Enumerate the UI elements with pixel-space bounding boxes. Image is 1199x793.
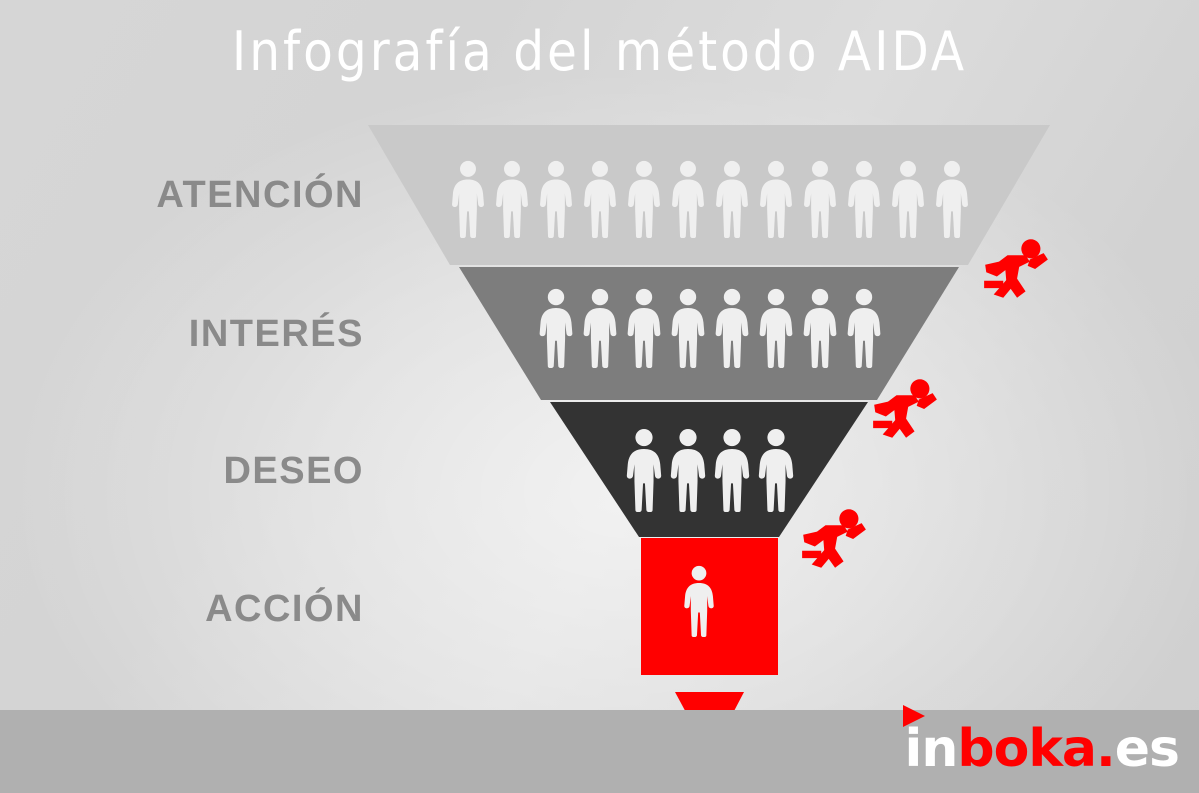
person-icon [446, 160, 490, 238]
person-icon [930, 160, 974, 238]
stage-label-interes: INTERÉS [189, 313, 364, 356]
person-icon [886, 160, 930, 238]
person-icon [622, 428, 666, 512]
person-icon [622, 288, 666, 368]
stage-label-deseo: DESEO [223, 450, 364, 493]
person-icon [710, 428, 754, 512]
runner-icon [871, 378, 939, 440]
runner-icon [800, 508, 868, 570]
logo-part-in: in [905, 723, 958, 775]
runner-icon [982, 238, 1050, 300]
people-row-atencion [440, 160, 980, 238]
person-icon [534, 288, 578, 368]
person-icon [578, 160, 622, 238]
aida-infographic: Infografía del método AIDA ATENCIÓN INTE… [0, 0, 1199, 793]
person-icon [842, 160, 886, 238]
people-row-deseo [620, 428, 800, 512]
person-icon [798, 288, 842, 368]
play-triangle-icon [903, 705, 925, 727]
person-icon [622, 160, 666, 238]
logo-dot: . [1096, 723, 1115, 775]
people-row-accion [676, 565, 722, 637]
people-row-interes [530, 288, 890, 368]
inboka-logo[interactable]: inboka.es [905, 723, 1179, 775]
funnel-diagram [0, 0, 1199, 793]
person-icon [666, 160, 710, 238]
person-icon [666, 288, 710, 368]
logo-part-boka: boka [957, 723, 1096, 775]
logo-tld: es [1115, 723, 1179, 775]
person-icon [490, 160, 534, 238]
person-icon [798, 160, 842, 238]
person-icon [578, 288, 622, 368]
page-title: Infografía del método AIDA [0, 22, 1199, 81]
person-icon [754, 288, 798, 368]
person-icon [666, 428, 710, 512]
person-icon [754, 428, 798, 512]
person-icon [754, 160, 798, 238]
person-icon [710, 288, 754, 368]
person-icon [842, 288, 886, 368]
person-icon [710, 160, 754, 238]
person-icon [681, 565, 717, 637]
stage-label-atencion: ATENCIÓN [156, 174, 364, 217]
person-icon [534, 160, 578, 238]
stage-label-accion: ACCIÓN [205, 588, 364, 631]
